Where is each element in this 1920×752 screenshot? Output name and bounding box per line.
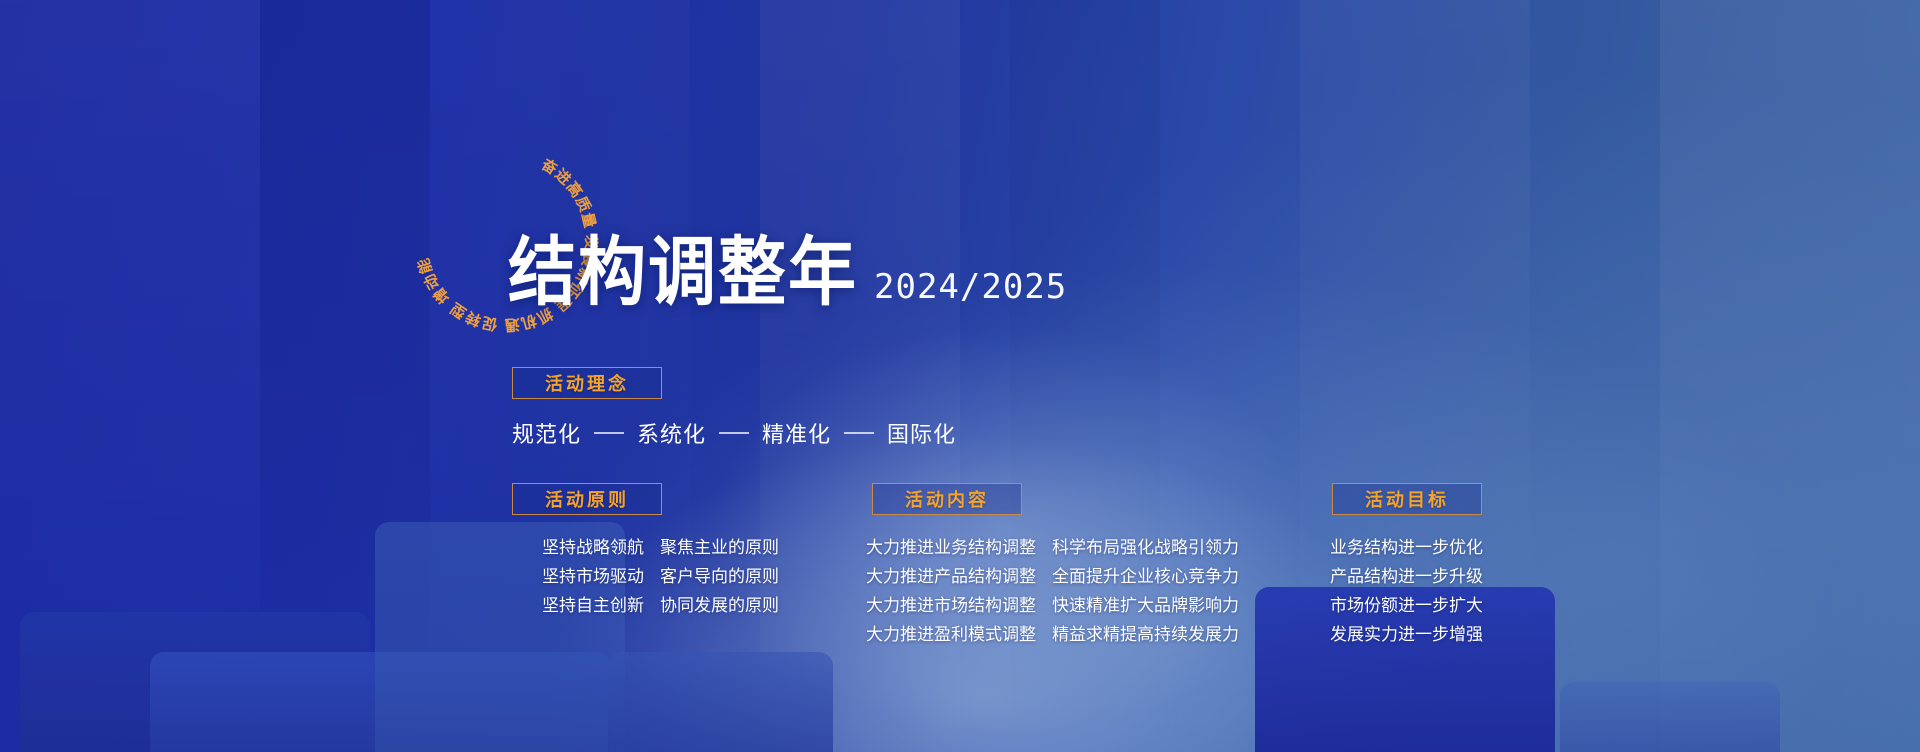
list-item: 坚持战略领航 聚焦主业的原则: [542, 534, 779, 562]
badge-activity-concept[interactable]: 活动理念: [512, 367, 662, 399]
principle-1a: 坚持战略领航: [542, 534, 644, 562]
list-item: 大力推进市场结构调整 快速精准扩大品牌影响力: [866, 592, 1239, 620]
content-4b: 精益求精提高持续发展力: [1052, 621, 1239, 649]
banner-canvas: 奋进高质量 发展新征程 抓机遇 促转型 增动能 结构调整年 2024/2025 …: [0, 0, 1920, 752]
principle-2a: 坚持市场驱动: [542, 563, 644, 591]
page-title: 结构调整年: [508, 236, 858, 311]
concept-keyword-2: 系统化: [637, 417, 706, 449]
banner-content: 奋进高质量 发展新征程 抓机遇 促转型 增动能 结构调整年 2024/2025 …: [0, 0, 1920, 752]
badge-activity-goals[interactable]: 活动目标: [1332, 483, 1482, 515]
content-4a: 大力推进盈利模式调整: [866, 621, 1036, 649]
concept-separator-1: [594, 432, 624, 434]
goal-4: 发展实力进一步增强: [1330, 621, 1483, 649]
principle-3b: 协同发展的原则: [660, 592, 779, 620]
concept-keyword-4: 国际化: [887, 417, 956, 449]
principle-2b: 客户导向的原则: [660, 563, 779, 591]
list-item: 大力推进产品结构调整 全面提升企业核心竞争力: [866, 563, 1239, 591]
concept-keyword-3: 精准化: [762, 417, 831, 449]
content-1a: 大力推进业务结构调整: [866, 534, 1036, 562]
content-2b: 全面提升企业核心竞争力: [1052, 563, 1239, 591]
concept-keywords: 规范化 系统化 精准化 国际化: [512, 417, 956, 449]
hero-title-group: 结构调整年 2024/2025: [508, 243, 1067, 311]
principle-3a: 坚持自主创新: [542, 592, 644, 620]
column-activity-content: 大力推进业务结构调整 科学布局强化战略引领力 大力推进产品结构调整 全面提升企业…: [866, 534, 1239, 649]
list-item: 坚持自主创新 协同发展的原则: [542, 592, 779, 620]
column-activity-goals: 业务结构进一步优化 产品结构进一步升级 市场份额进一步扩大 发展实力进一步增强: [1330, 534, 1483, 649]
badge-activity-content-label: 活动内容: [905, 486, 989, 512]
content-1b: 科学布局强化战略引领力: [1052, 534, 1239, 562]
list-item: 大力推进盈利模式调整 精益求精提高持续发展力: [866, 621, 1239, 649]
list-item: 业务结构进一步优化: [1330, 534, 1483, 562]
hero-years: 2024/2025: [874, 267, 1067, 311]
goal-1: 业务结构进一步优化: [1330, 534, 1483, 562]
goal-2: 产品结构进一步升级: [1330, 563, 1483, 591]
concept-keyword-1: 规范化: [512, 417, 581, 449]
badge-activity-concept-label: 活动理念: [545, 370, 629, 396]
list-item: 大力推进业务结构调整 科学布局强化战略引领力: [866, 534, 1239, 562]
content-3a: 大力推进市场结构调整: [866, 592, 1036, 620]
badge-activity-principles[interactable]: 活动原则: [512, 483, 662, 515]
goal-3: 市场份额进一步扩大: [1330, 592, 1483, 620]
list-item: 市场份额进一步扩大: [1330, 592, 1483, 620]
content-3b: 快速精准扩大品牌影响力: [1052, 592, 1239, 620]
concept-separator-3: [844, 432, 874, 434]
content-2a: 大力推进产品结构调整: [866, 563, 1036, 591]
principle-1b: 聚焦主业的原则: [660, 534, 779, 562]
concept-separator-2: [719, 432, 749, 434]
list-item: 坚持市场驱动 客户导向的原则: [542, 563, 779, 591]
list-item: 发展实力进一步增强: [1330, 621, 1483, 649]
badge-activity-goals-label: 活动目标: [1365, 486, 1449, 512]
list-item: 产品结构进一步升级: [1330, 563, 1483, 591]
column-activity-principles: 坚持战略领航 聚焦主业的原则 坚持市场驱动 客户导向的原则 坚持自主创新 协同发…: [542, 534, 779, 620]
badge-activity-content[interactable]: 活动内容: [872, 483, 1022, 515]
badge-activity-principles-label: 活动原则: [545, 486, 629, 512]
